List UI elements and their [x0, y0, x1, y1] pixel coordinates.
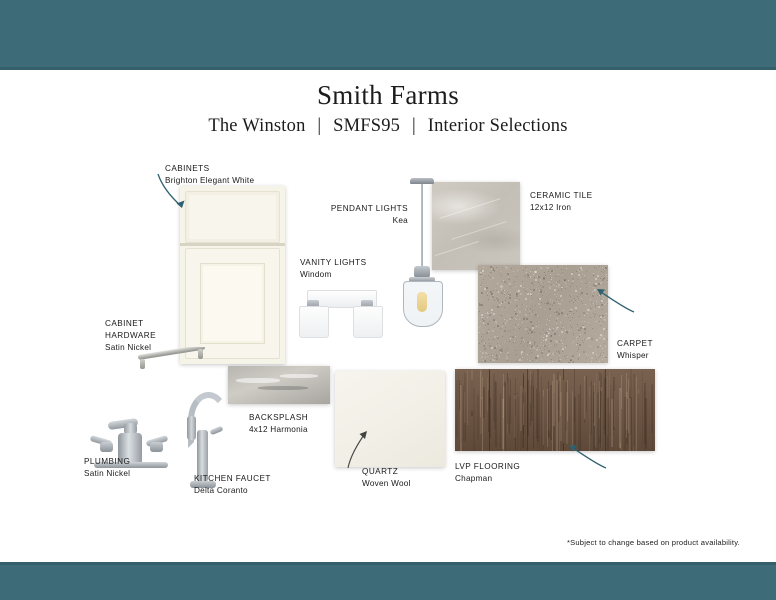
carpet-fleck: [514, 281, 515, 282]
carpet-fleck: [554, 294, 555, 295]
carpet-fleck: [566, 268, 567, 269]
carpet-fleck: [576, 339, 577, 340]
carpet-fleck: [530, 308, 531, 309]
carpet-fleck: [599, 321, 600, 322]
carpet-fleck: [483, 320, 485, 322]
carpet-fleck: [585, 330, 586, 331]
carpet-fleck: [509, 318, 511, 320]
carpet-fleck: [532, 306, 533, 307]
carpet-fleck: [553, 302, 555, 304]
carpet-fleck: [577, 324, 578, 325]
carpet-fleck: [526, 318, 528, 320]
carpet-fleck: [604, 269, 605, 270]
label-cabinets-product: Brighton Elegant White: [165, 175, 254, 187]
swatch-ceramic-tile: [432, 182, 520, 270]
carpet-fleck: [573, 335, 574, 336]
carpet-fleck: [603, 328, 605, 330]
carpet-fleck: [565, 315, 566, 316]
carpet-fleck: [588, 337, 590, 339]
carpet-fleck: [604, 355, 605, 356]
carpet-fleck: [516, 298, 517, 299]
carpet-fleck: [480, 326, 481, 327]
carpet-fleck: [520, 327, 521, 328]
carpet-fleck: [547, 267, 549, 269]
carpet-fleck: [484, 348, 486, 350]
carpet-fleck: [485, 357, 486, 358]
carpet-fleck: [568, 317, 569, 318]
carpet-fleck: [523, 270, 524, 271]
carpet-fleck: [557, 315, 558, 316]
carpet-fleck: [501, 281, 502, 282]
carpet-fleck: [560, 322, 561, 323]
lvp-grain-streak: [537, 394, 538, 448]
carpet-fleck: [603, 356, 604, 357]
section-name: Interior Selections: [428, 116, 568, 136]
carpet-fleck: [510, 320, 511, 321]
carpet-fleck: [562, 346, 563, 347]
carpet-fleck: [522, 281, 523, 282]
carpet-fleck: [491, 312, 492, 313]
carpet-fleck: [561, 269, 562, 270]
carpet-fleck: [483, 273, 484, 274]
carpet-fleck: [562, 351, 563, 352]
carpet-fleck: [573, 302, 574, 303]
board-header: Smith Farms The Winston | SMFS95 | Inter…: [0, 80, 776, 137]
carpet-fleck: [482, 340, 483, 341]
lvp-grain-streak: [500, 394, 502, 448]
carpet-fleck: [501, 292, 503, 294]
carpet-fleck: [527, 354, 528, 355]
carpet-fleck: [504, 290, 505, 291]
carpet-fleck: [482, 300, 483, 301]
cabinet-reveal-gap: [180, 243, 285, 246]
carpet-fleck: [524, 289, 525, 290]
carpet-fleck: [529, 353, 530, 354]
carpet-fleck: [507, 315, 508, 316]
carpet-fleck: [600, 334, 602, 336]
carpet-fleck: [533, 284, 534, 285]
carpet-fleck: [527, 359, 528, 360]
carpet-fleck: [525, 314, 527, 316]
carpet-fleck: [530, 271, 531, 272]
carpet-fleck: [520, 293, 522, 295]
carpet-fleck: [527, 292, 528, 293]
carpet-fleck: [535, 279, 537, 281]
carpet-fleck: [484, 360, 486, 362]
carpet-fleck: [517, 270, 518, 271]
label-cabinet-hardware-product: Satin Nickel: [105, 342, 156, 354]
carpet-fleck: [543, 282, 544, 283]
carpet-fleck: [481, 314, 483, 316]
carpet-fleck: [550, 328, 551, 329]
carpet-fleck: [501, 271, 502, 272]
carpet-fleck: [579, 354, 580, 355]
carpet-fleck: [530, 290, 531, 291]
carpet-fleck: [576, 271, 577, 272]
carpet-fleck: [586, 358, 587, 359]
carpet-fleck: [530, 350, 531, 351]
carpet-fleck: [565, 288, 566, 289]
carpet-fleck: [515, 324, 516, 325]
carpet-fleck: [558, 284, 559, 285]
carpet-fleck: [480, 286, 481, 287]
carpet-fleck: [566, 345, 567, 346]
carpet-fleck: [481, 283, 482, 284]
carpet-fleck: [503, 323, 504, 324]
carpet-fleck: [532, 269, 533, 270]
carpet-fleck: [551, 345, 552, 346]
carpet-fleck: [556, 351, 557, 352]
carpet-fleck: [578, 349, 579, 350]
carpet-fleck: [557, 294, 558, 295]
lvp-grain-streak: [520, 386, 522, 431]
carpet-fleck: [554, 310, 555, 311]
carpet-fleck: [583, 312, 585, 314]
lvp-grain-streak: [503, 374, 504, 452]
carpet-fleck: [577, 296, 578, 297]
carpet-fleck: [551, 277, 552, 278]
carpet-fleck: [527, 331, 528, 332]
tile-vein-1: [439, 198, 500, 219]
carpet-fleck: [559, 335, 560, 336]
lvp-grain-streak: [591, 381, 592, 436]
carpet-fleck: [478, 318, 479, 319]
carpet-fleck: [552, 300, 553, 301]
label-carpet-product: Whisper: [617, 350, 653, 362]
backsplash-vein-light-1: [236, 378, 280, 383]
carpet-fleck: [555, 276, 556, 277]
carpet-fleck: [583, 342, 584, 343]
label-plumbing-category: PLUMBING: [84, 456, 130, 468]
carpet-fleck: [600, 346, 601, 347]
pendant-edison-bulb: [417, 292, 427, 312]
carpet-fleck: [576, 311, 577, 312]
carpet-fleck: [532, 310, 533, 311]
carpet-fleck: [569, 330, 570, 331]
carpet-fleck: [565, 330, 566, 331]
lvp-grain-streak: [553, 374, 555, 426]
bar-pull-post-left: [140, 359, 145, 369]
carpet-fleck: [566, 331, 568, 333]
carpet-fleck: [525, 275, 526, 276]
label-backsplash: BACKSPLASH 4x12 Harmonia: [249, 412, 308, 436]
carpet-fleck: [526, 272, 527, 273]
carpet-fleck: [549, 355, 550, 356]
carpet-fleck: [572, 358, 573, 359]
carpet-fleck: [499, 356, 500, 357]
carpet-fleck: [526, 306, 527, 307]
tile-vein-2: [451, 221, 506, 240]
top-banner-edge: [0, 67, 776, 70]
carpet-fleck: [591, 357, 593, 359]
label-pendant-lights-product: Kea: [293, 215, 408, 227]
carpet-fleck: [562, 266, 563, 267]
carpet-fleck: [530, 291, 531, 292]
carpet-fleck: [554, 312, 555, 313]
carpet-fleck: [551, 359, 552, 360]
arrow-to-quartz: [340, 424, 374, 470]
carpet-fleck: [603, 272, 604, 273]
carpet-fleck: [480, 351, 481, 352]
carpet-fleck: [607, 339, 608, 340]
carpet-fleck: [496, 267, 497, 268]
carpet-fleck: [585, 362, 586, 363]
carpet-fleck: [558, 357, 559, 358]
carpet-fleck: [516, 276, 517, 277]
carpet-fleck: [483, 323, 484, 324]
carpet-fleck: [545, 291, 546, 292]
carpet-fleck: [562, 314, 563, 315]
carpet-fleck: [480, 321, 481, 322]
carpet-fleck: [554, 344, 555, 345]
carpet-fleck: [543, 337, 544, 338]
label-lvp-flooring-product: Chapman: [455, 473, 520, 485]
carpet-fleck: [546, 336, 547, 337]
carpet-fleck: [549, 308, 551, 310]
carpet-fleck: [556, 329, 557, 330]
carpet-fleck: [603, 277, 604, 278]
subtitle-separator-1: |: [310, 116, 328, 136]
carpet-fleck: [606, 329, 607, 330]
carpet-fleck: [579, 344, 581, 346]
lvp-grain-streak: [574, 369, 576, 422]
carpet-fleck: [583, 351, 585, 353]
carpet-fleck: [551, 284, 552, 285]
carpet-fleck: [553, 328, 554, 329]
carpet-fleck: [552, 361, 553, 362]
label-vanity-lights-category: VANITY LIGHTS: [300, 257, 367, 269]
label-lvp-flooring-category: LVP FLOORING: [455, 461, 520, 473]
carpet-fleck: [561, 328, 562, 329]
carpet-fleck: [482, 270, 484, 272]
carpet-fleck: [501, 303, 502, 304]
page-subtitle: The Winston | SMFS95 | Interior Selectio…: [0, 116, 776, 137]
carpet-fleck: [580, 265, 581, 266]
carpet-fleck: [505, 327, 506, 328]
carpet-fleck: [564, 338, 565, 339]
carpet-fleck: [600, 318, 601, 319]
carpet-fleck: [497, 297, 498, 298]
carpet-fleck: [488, 299, 489, 300]
lvp-grain-streak: [464, 373, 466, 441]
carpet-fleck: [490, 279, 491, 280]
lvp-grain-streak: [611, 399, 613, 447]
carpet-fleck: [556, 299, 557, 300]
carpet-fleck: [541, 282, 542, 283]
carpet-fleck: [579, 326, 580, 327]
carpet-fleck: [487, 295, 488, 296]
carpet-fleck: [550, 315, 551, 316]
carpet-fleck: [546, 303, 547, 304]
carpet-fleck: [552, 330, 553, 331]
carpet-fleck: [504, 293, 505, 294]
carpet-fleck: [602, 362, 603, 363]
cabinet-door-panel: [200, 263, 265, 344]
carpet-fleck: [556, 312, 557, 313]
carpet-fleck: [599, 361, 600, 362]
carpet-fleck: [491, 309, 493, 311]
carpet-fleck: [497, 292, 498, 293]
carpet-fleck: [507, 360, 508, 361]
carpet-fleck: [574, 298, 575, 299]
carpet-fleck: [603, 338, 605, 340]
carpet-fleck: [559, 353, 560, 354]
carpet-fleck: [505, 323, 506, 324]
carpet-fleck: [604, 319, 606, 321]
label-cabinet-hardware: CABINET HARDWARE Satin Nickel: [105, 318, 156, 354]
carpet-fleck: [557, 266, 558, 267]
carpet-fleck: [582, 303, 583, 304]
carpet-fleck: [600, 353, 601, 354]
vanity-shade-left: [299, 306, 329, 338]
carpet-fleck: [596, 321, 597, 322]
carpet-fleck: [505, 350, 506, 351]
lvp-grain-streak: [487, 378, 488, 411]
carpet-fleck: [492, 277, 494, 279]
carpet-fleck: [605, 267, 607, 269]
carpet-fleck: [596, 354, 597, 355]
lvp-grain-streak: [533, 386, 534, 450]
carpet-fleck: [570, 296, 571, 297]
carpet-fleck: [579, 271, 580, 272]
carpet-fleck: [561, 340, 562, 341]
lvp-grain-streak: [507, 383, 508, 433]
carpet-fleck: [588, 355, 589, 356]
carpet-fleck: [576, 286, 577, 287]
carpet-fleck: [579, 316, 580, 317]
carpet-fleck: [597, 275, 599, 277]
carpet-fleck: [513, 271, 514, 272]
carpet-fleck: [584, 339, 585, 340]
carpet-fleck: [534, 316, 535, 317]
carpet-fleck: [562, 300, 563, 301]
carpet-fleck: [522, 357, 523, 358]
carpet-fleck: [527, 288, 528, 289]
carpet-fleck: [545, 339, 547, 341]
carpet-fleck: [603, 321, 604, 322]
lvp-grain-streak: [609, 372, 610, 413]
carpet-fleck: [510, 286, 511, 287]
carpet-fleck: [506, 283, 507, 284]
lvp-grain-streak: [460, 385, 462, 451]
carpet-fleck: [571, 273, 573, 275]
label-carpet-category: CARPET: [617, 338, 653, 350]
carpet-fleck: [537, 355, 539, 357]
lvp-grain-streak: [509, 396, 510, 434]
carpet-fleck: [521, 353, 522, 354]
carpet-fleck: [536, 360, 537, 361]
carpet-fleck: [504, 342, 505, 343]
lvp-grain-streak: [525, 392, 527, 451]
carpet-fleck: [567, 333, 568, 334]
carpet-fleck: [605, 346, 606, 347]
carpet-fleck: [529, 342, 531, 344]
carpet-fleck: [538, 299, 539, 300]
carpet-fleck: [567, 314, 568, 315]
carpet-fleck: [573, 341, 574, 342]
carpet-fleck: [537, 347, 538, 348]
carpet-fleck: [485, 313, 486, 314]
carpet-fleck: [602, 359, 603, 360]
carpet-fleck: [606, 274, 607, 275]
carpet-fleck: [544, 272, 545, 273]
carpet-fleck: [548, 350, 550, 352]
carpet-fleck: [554, 346, 555, 347]
carpet-fleck: [503, 280, 504, 281]
label-lvp-flooring: LVP FLOORING Chapman: [455, 461, 520, 485]
carpet-fleck: [581, 301, 582, 302]
lvp-grain-streak: [596, 373, 597, 448]
carpet-fleck: [569, 311, 570, 312]
lvp-grain-streak: [628, 379, 629, 433]
carpet-fleck: [540, 285, 541, 286]
carpet-fleck: [541, 352, 543, 354]
carpet-fleck: [485, 325, 486, 326]
carpet-fleck: [510, 292, 511, 293]
lvp-grain-streak: [560, 392, 562, 441]
carpet-fleck: [581, 292, 583, 294]
carpet-fleck: [548, 271, 549, 272]
carpet-fleck: [518, 306, 519, 307]
carpet-fleck: [553, 352, 554, 353]
carpet-fleck: [558, 313, 560, 315]
lvp-grain-streak: [638, 394, 639, 451]
carpet-fleck: [533, 289, 535, 291]
carpet-fleck: [578, 274, 580, 276]
carpet-fleck: [492, 355, 493, 356]
carpet-fleck: [575, 290, 577, 292]
carpet-fleck: [501, 309, 502, 310]
carpet-fleck: [504, 284, 505, 285]
backsplash-vein-light-2: [280, 374, 318, 378]
carpet-fleck: [493, 290, 494, 291]
label-ceramic-tile-product: 12x12 Iron: [530, 202, 593, 214]
carpet-fleck: [497, 306, 499, 308]
carpet-fleck: [565, 283, 566, 284]
lvp-grain-streak: [480, 371, 481, 418]
carpet-fleck: [530, 301, 531, 302]
carpet-fleck: [481, 336, 482, 337]
carpet-fleck: [562, 272, 563, 273]
carpet-fleck: [558, 274, 559, 275]
carpet-fleck: [485, 276, 486, 277]
carpet-fleck: [546, 324, 547, 325]
carpet-fleck: [586, 271, 587, 272]
carpet-fleck: [494, 336, 496, 338]
carpet-fleck: [481, 356, 483, 358]
carpet-fleck: [506, 298, 507, 299]
carpet-fleck: [540, 307, 541, 308]
carpet-fleck: [550, 274, 551, 275]
carpet-fleck: [533, 274, 534, 275]
label-quartz: QUARTZ Woven Wool: [362, 466, 411, 490]
carpet-fleck: [566, 286, 567, 287]
carpet-fleck: [570, 286, 571, 287]
carpet-fleck: [520, 343, 521, 344]
carpet-fleck: [493, 319, 495, 321]
carpet-fleck: [495, 288, 496, 289]
carpet-fleck: [503, 290, 504, 291]
lvp-grain-streak: [527, 380, 529, 436]
carpet-fleck: [552, 353, 554, 355]
lav-faucet-hub-left: [100, 442, 113, 452]
lvp-grain-streak: [543, 396, 544, 451]
carpet-fleck: [554, 271, 555, 272]
carpet-fleck: [540, 333, 541, 334]
bar-pull-post-right: [198, 349, 203, 359]
carpet-fleck: [512, 336, 514, 338]
carpet-fleck: [595, 350, 596, 351]
